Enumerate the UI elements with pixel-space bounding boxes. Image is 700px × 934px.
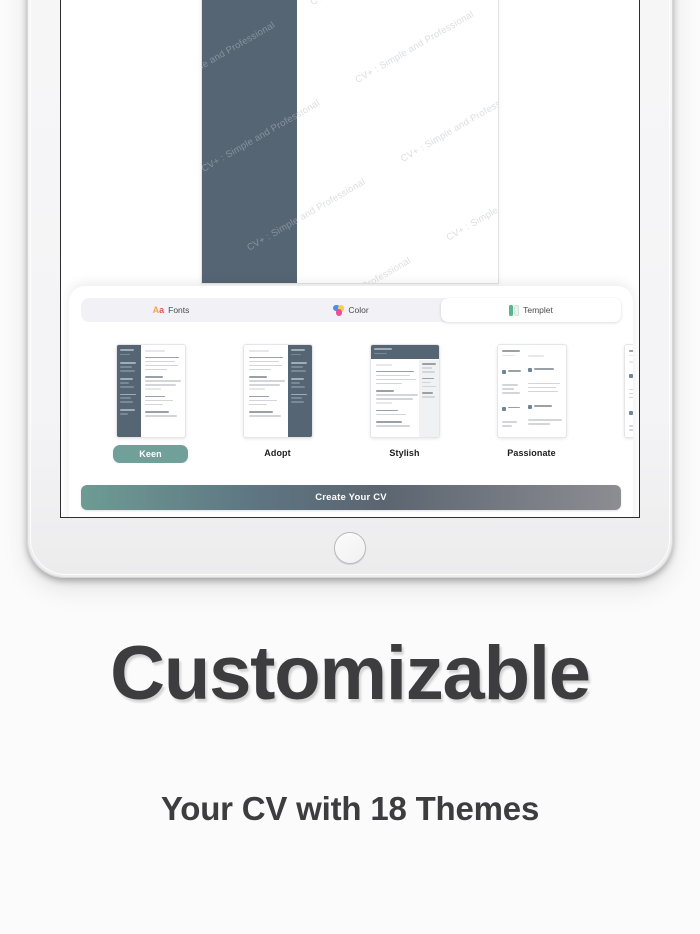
theme-label-stylish[interactable]: Stylish <box>389 448 419 458</box>
tab-fonts-label: Fonts <box>168 305 189 315</box>
page-subheadline: Your CV with 18 Themes <box>0 792 700 825</box>
theme-thumbnail-diligent[interactable] <box>624 344 634 438</box>
cta-container: Create Your CV <box>69 463 633 510</box>
watermark-text: CV+ : Simple and Professional <box>296 0 495 67</box>
theme-item-adopt[interactable]: Adopt <box>214 344 341 463</box>
tab-fonts[interactable]: Aa Fonts <box>81 298 261 322</box>
theme-item-passionate[interactable]: Passionate <box>468 344 595 463</box>
thumb-sidebar <box>117 345 141 437</box>
theme-thumbnail-stylish[interactable] <box>370 344 440 438</box>
theme-item-diligent[interactable]: Dilig <box>595 344 633 463</box>
tab-color-label: Color <box>348 305 368 315</box>
bullet-icon <box>629 411 633 415</box>
home-button[interactable] <box>334 532 366 564</box>
bullet-icon <box>528 438 532 439</box>
theme-thumbnail-keen[interactable] <box>116 344 186 438</box>
theme-label-passionate[interactable]: Passionate <box>507 448 556 458</box>
create-your-cv-button[interactable]: Create Your CV <box>81 485 621 510</box>
template-icon <box>509 305 519 316</box>
tablet-device-frame: CV+ : Simple and ProfessionalCV+ : Simpl… <box>27 0 673 578</box>
bullet-icon <box>502 407 506 411</box>
bullet-icon <box>528 405 532 409</box>
tab-color[interactable]: Color <box>261 298 441 322</box>
bullet-icon <box>629 374 633 378</box>
cv-document-page[interactable]: CV+ : Simple and ProfessionalCV+ : Simpl… <box>201 0 499 284</box>
watermark-text: CV+ : Simple and Professional <box>278 224 477 284</box>
thumb-header-bar <box>371 345 439 359</box>
thumb-sidebar <box>288 345 312 437</box>
theme-label-keen[interactable]: Keen <box>113 445 187 463</box>
watermark-text: CV+ : Simple and Professional <box>341 0 499 146</box>
tablet-screen: CV+ : Simple and ProfessionalCV+ : Simpl… <box>60 0 640 518</box>
theme-thumbnail-list[interactable]: Keen <box>69 322 633 463</box>
tab-templet-label: Templet <box>523 305 553 315</box>
tab-templet[interactable]: Templet <box>441 298 621 322</box>
bullet-icon <box>502 370 506 374</box>
theme-item-stylish[interactable]: Stylish <box>341 344 468 463</box>
theme-label-adopt[interactable]: Adopt <box>264 448 291 458</box>
cv-page-sidebar <box>202 0 297 283</box>
theme-thumbnail-passionate[interactable] <box>497 344 567 438</box>
watermark-text: CV+ : Simple and Professional <box>477 214 499 284</box>
page-headline: Customizable <box>0 636 700 712</box>
watermark-text: CV+ : Simple and Professional <box>432 136 499 284</box>
color-circles-icon <box>333 305 344 316</box>
watermark-text: CV+ : Simple and Professional <box>386 57 499 224</box>
theme-thumbnail-adopt[interactable] <box>243 344 313 438</box>
panel-tab-bar: Aa Fonts Color Templet <box>81 298 621 322</box>
theme-item-keen[interactable]: Keen <box>87 344 214 463</box>
bullet-icon <box>528 368 532 372</box>
fonts-aa-icon: Aa <box>153 306 165 315</box>
customization-panel: Aa Fonts Color Templet <box>69 286 633 518</box>
cv-preview-area[interactable]: CV+ : Simple and ProfessionalCV+ : Simpl… <box>61 0 640 286</box>
watermark-text: CV+ : Simple and Professional <box>495 0 499 57</box>
thumb-side-rail <box>419 360 439 437</box>
